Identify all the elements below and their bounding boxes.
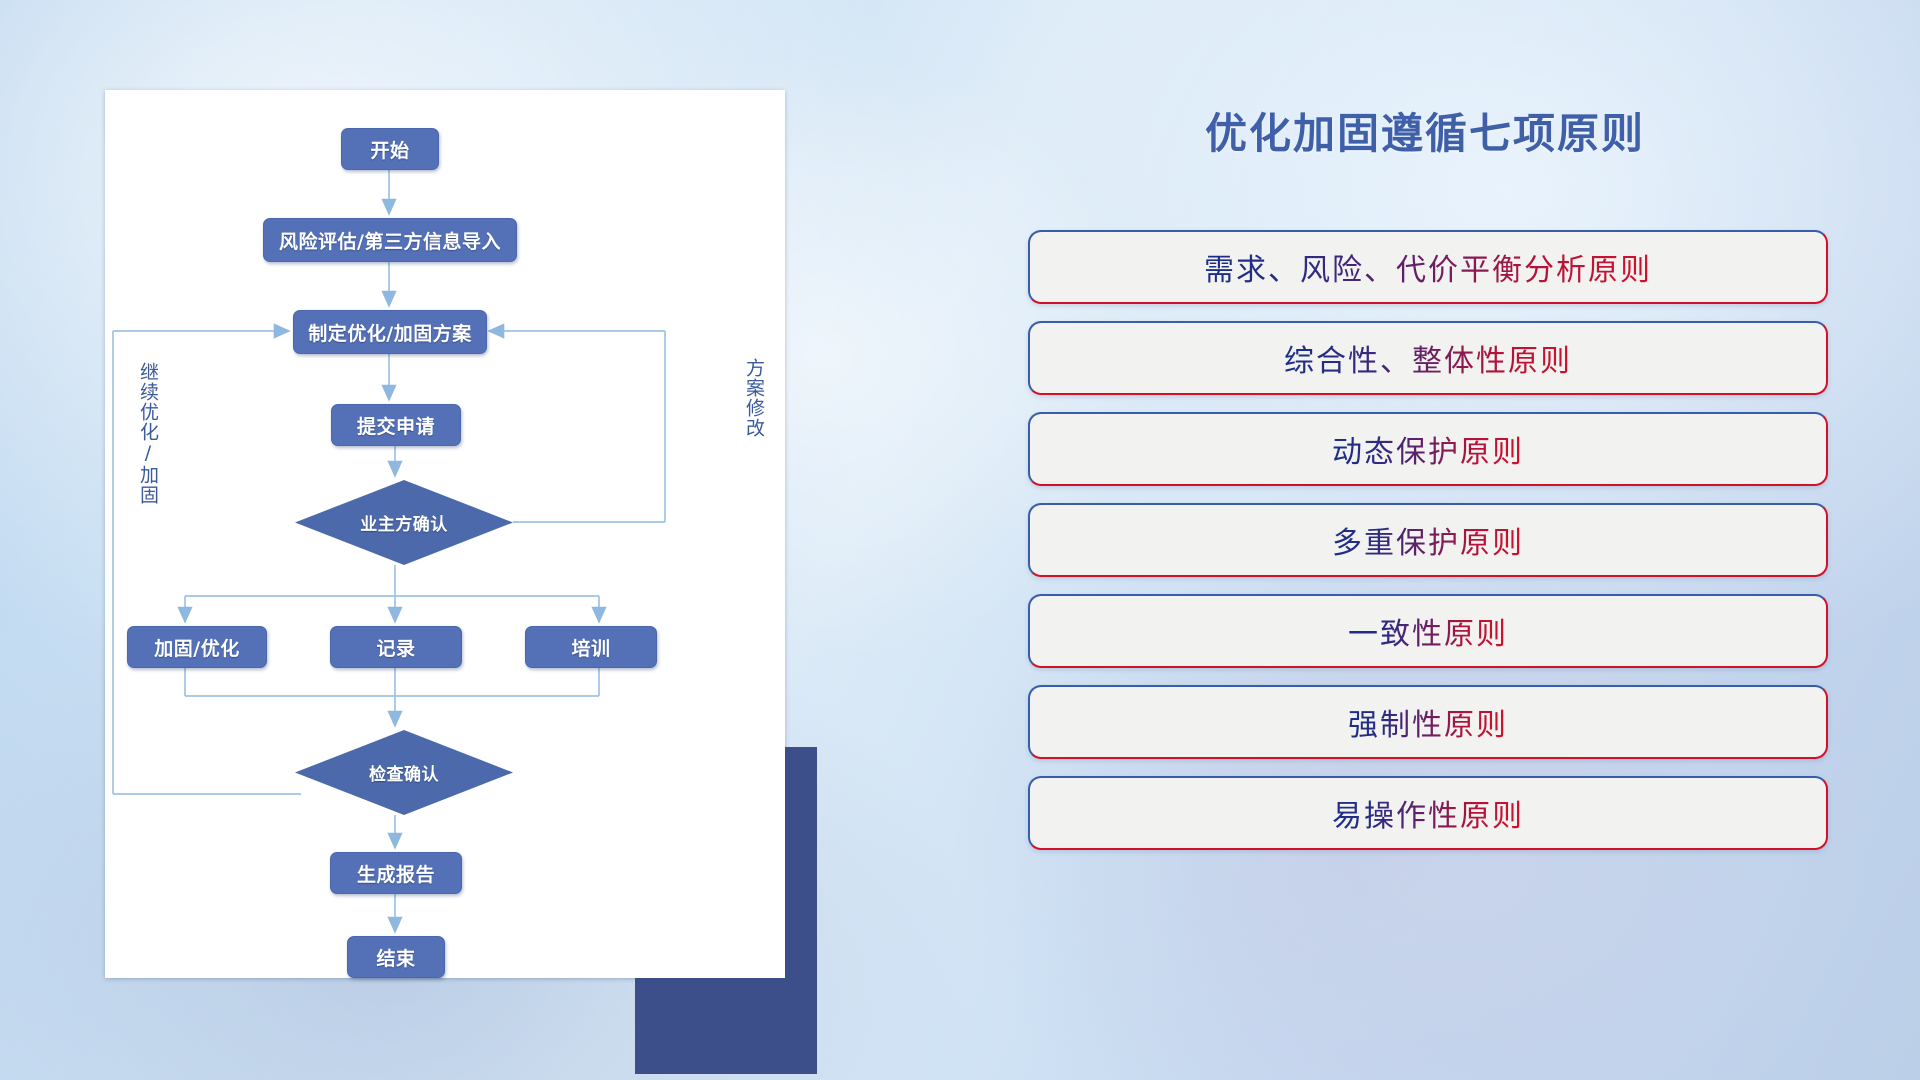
principle-card-3[interactable]: 动态保护原则 (1028, 412, 1828, 486)
principle-card-1[interactable]: 需求、风险、代价平衡分析原则 (1028, 230, 1828, 304)
flow-node-record[interactable]: 记录 (330, 626, 462, 668)
principle-label: 多重保护原则 (1332, 518, 1524, 562)
flow-node-end[interactable]: 结束 (347, 936, 445, 978)
flow-label-plan-revision: 方案修改 (743, 358, 763, 498)
flow-node-label: 结束 (376, 944, 415, 971)
flow-node-label: 生成报告 (357, 860, 435, 887)
flow-label-continue-optimize: 继续优化/加固 (137, 362, 157, 542)
principle-card-2[interactable]: 综合性、整体性原则 (1028, 321, 1828, 395)
principle-card-7[interactable]: 易操作性原则 (1028, 776, 1828, 850)
flow-node-label: 提交申请 (357, 412, 435, 439)
flowchart-panel: 继续优化/加固 方案修改 开始风险评估/第三方信息导入制定优化/加固方案提交申请… (105, 90, 805, 990)
principles-panel: 优化加固遵循七项原则 需求、风险、代价平衡分析原则综合性、整体性原则动态保护原则… (1010, 70, 1840, 1030)
flow-node-label: 检查确认 (369, 760, 439, 785)
flow-node-submit[interactable]: 提交申请 (331, 404, 461, 446)
flow-node-label: 记录 (376, 634, 415, 661)
principles-list: 需求、风险、代价平衡分析原则综合性、整体性原则动态保护原则多重保护原则一致性原则… (1028, 230, 1828, 867)
principle-label: 强制性原则 (1348, 700, 1508, 744)
flow-node-ownercfm[interactable]: 业主方确认 (295, 480, 513, 565)
principle-label: 综合性、整体性原则 (1284, 336, 1572, 380)
principle-label: 易操作性原则 (1332, 791, 1524, 835)
flow-node-label: 业主方确认 (360, 510, 448, 535)
principle-card-6[interactable]: 强制性原则 (1028, 685, 1828, 759)
flowchart-card: 继续优化/加固 方案修改 开始风险评估/第三方信息导入制定优化/加固方案提交申请… (105, 90, 785, 978)
flow-node-risk[interactable]: 风险评估/第三方信息导入 (263, 218, 517, 262)
flow-node-label: 培训 (571, 634, 610, 661)
flow-node-label: 加固/优化 (154, 634, 239, 661)
flow-node-training[interactable]: 培训 (525, 626, 657, 668)
flow-node-label: 制定优化/加固方案 (308, 319, 471, 346)
flow-node-checkcfm[interactable]: 检查确认 (295, 730, 513, 815)
flow-node-report[interactable]: 生成报告 (330, 852, 462, 894)
flow-node-label: 开始 (370, 136, 409, 163)
principle-label: 需求、风险、代价平衡分析原则 (1204, 245, 1652, 289)
principle-label: 一致性原则 (1348, 609, 1508, 653)
flow-node-reinforce[interactable]: 加固/优化 (127, 626, 267, 668)
principle-card-5[interactable]: 一致性原则 (1028, 594, 1828, 668)
principle-label: 动态保护原则 (1332, 427, 1524, 471)
flow-node-label: 风险评估/第三方信息导入 (279, 227, 501, 254)
page-title: 优化加固遵循七项原则 (1010, 100, 1840, 161)
flow-node-plan[interactable]: 制定优化/加固方案 (293, 310, 487, 354)
flow-node-start[interactable]: 开始 (341, 128, 439, 170)
principle-card-4[interactable]: 多重保护原则 (1028, 503, 1828, 577)
